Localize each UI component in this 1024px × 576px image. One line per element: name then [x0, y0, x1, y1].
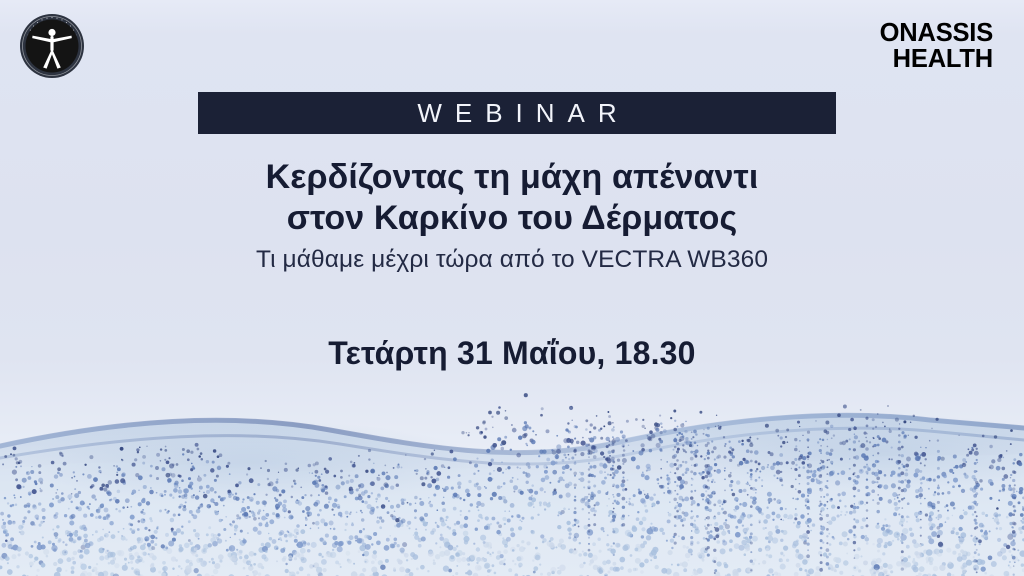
webinar-banner-label: WEBINAR	[404, 100, 629, 126]
particle-wave-graphic	[0, 366, 1024, 576]
webinar-promo-canvas: ONASSIS HEALTH WEBINAR Κερδίζοντας τη μά…	[0, 0, 1024, 576]
subtitle: Τι μάθαμε μέχρι τώρα από το VECTRA WB360	[0, 245, 1024, 275]
brand-logo	[19, 13, 85, 79]
webinar-banner: WEBINAR	[198, 92, 836, 134]
onassis-logo-line-1: ONASSIS	[880, 20, 993, 46]
headline-line-1: Κερδίζοντας τη μάχη απέναντι	[0, 157, 1024, 198]
onassis-health-logo: ONASSIS HEALTH	[880, 20, 993, 73]
headline: Κερδίζοντας τη μάχη απέναντι στον Καρκίν…	[0, 157, 1024, 239]
onassis-logo-line-2: HEALTH	[880, 46, 993, 72]
headline-line-2: στον Καρκίνο του Δέρματος	[0, 198, 1024, 239]
event-date: Τετάρτη 31 Μαΐου, 18.30	[0, 333, 1024, 373]
